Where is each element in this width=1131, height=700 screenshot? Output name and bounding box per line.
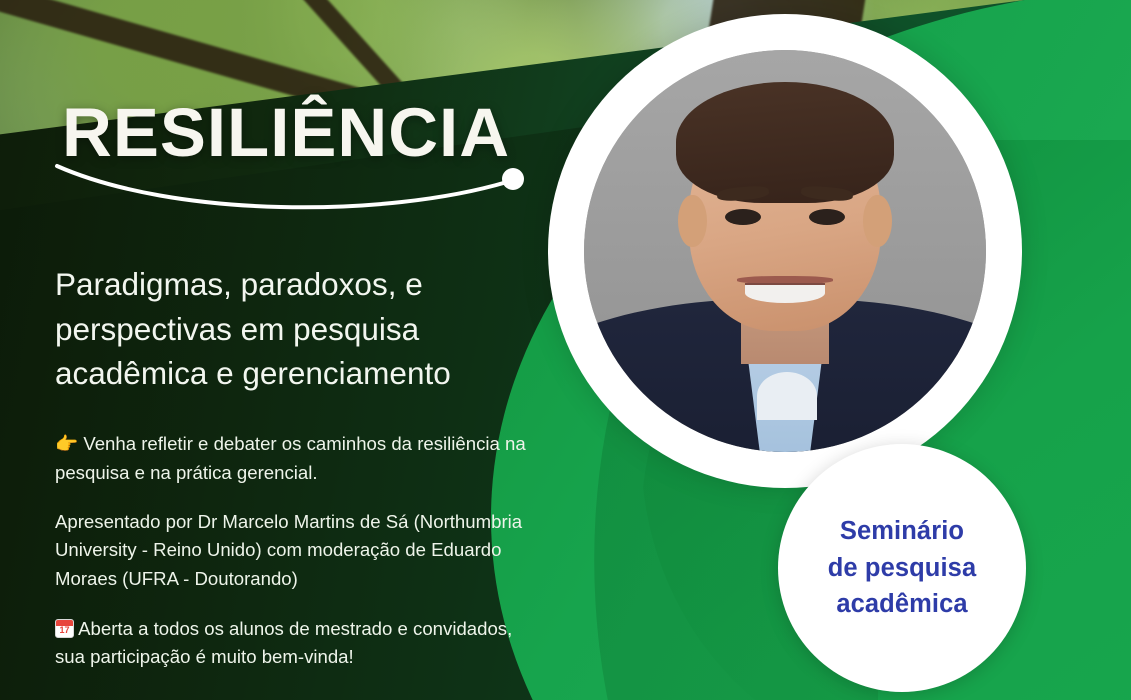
subtitle: Paradigmas, paradoxos, e perspectivas em…: [55, 262, 555, 396]
presenter-paragraph: Apresentado por Dr Marcelo Martins de Sá…: [55, 508, 535, 593]
page-title: RESILIÊNCIA: [62, 98, 510, 167]
swoosh-underline-icon: [55, 160, 525, 216]
badge-line-1: Seminário: [828, 513, 977, 550]
speaker-photo-ring: [548, 14, 1022, 488]
badge-line-3: acadêmica: [828, 586, 977, 623]
speaker-photo: [584, 50, 986, 452]
audience-paragraph: Aberta a todos os alunos de mestrado e c…: [55, 615, 535, 672]
seminar-badge: Seminário de pesquisa acadêmica: [778, 444, 1026, 692]
event-poster: app RESILIÊNCIA Paradigmas, paradoxos, e…: [0, 0, 1131, 700]
calendar-icon: [55, 619, 74, 638]
photo-hair: [676, 82, 893, 203]
photo-ear-left: [678, 195, 706, 247]
badge-line-2: de pesquisa: [828, 550, 977, 587]
photo-eye-right: [809, 209, 845, 225]
pointing-hand-icon: 👉: [55, 434, 78, 455]
audience-text: Aberta a todos os alunos de mestrado e c…: [55, 618, 512, 667]
photo-eye-left: [725, 209, 761, 225]
seminar-badge-text: Seminário de pesquisa acadêmica: [828, 513, 977, 624]
invite-paragraph: 👉 Venha refletir e debater os caminhos d…: [55, 430, 535, 488]
photo-ear-right: [863, 195, 891, 247]
invite-text: Venha refletir e debater os caminhos da …: [55, 433, 526, 483]
photo-undershirt: [757, 372, 817, 420]
